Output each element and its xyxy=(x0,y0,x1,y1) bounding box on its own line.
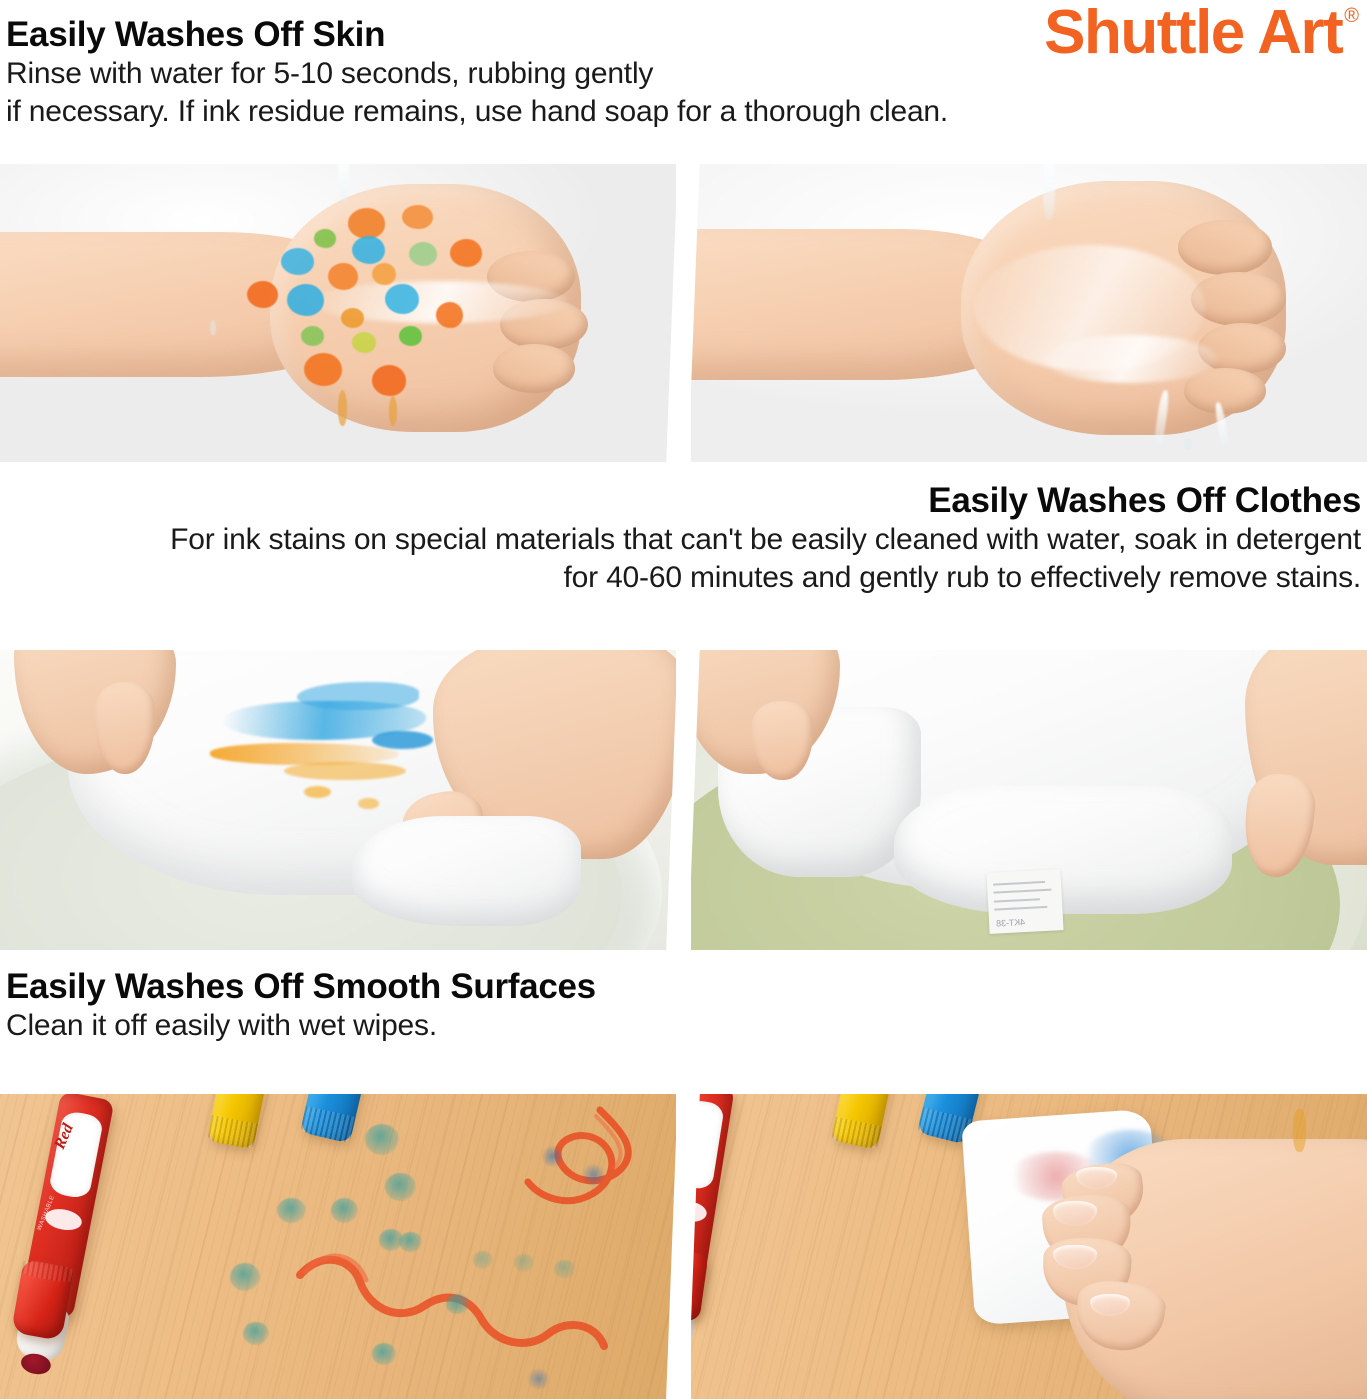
teal-ink-dot xyxy=(446,1294,469,1314)
hand-rinsing-under-water-photo xyxy=(691,160,1367,462)
teal-ink-dot xyxy=(554,1260,574,1279)
registered-trademark-icon: ® xyxy=(1344,6,1359,26)
teal-ink-dot xyxy=(277,1198,305,1223)
teal-ink-dot xyxy=(372,1343,396,1365)
teal-ink-dot xyxy=(365,1124,399,1155)
marker-scribbles-on-wood-table-photo: Red WASHABLE xyxy=(0,1090,676,1399)
shirt-size-tag-text: 4KT-38 xyxy=(997,917,1027,929)
section-clothes-photos: 4KT-38 xyxy=(0,646,1367,950)
knuckle xyxy=(1184,368,1265,413)
blue-ink-dot xyxy=(527,1368,550,1390)
ink-stain-orange xyxy=(304,786,331,798)
ink-dot-orange xyxy=(450,239,482,268)
ink-dot-orange xyxy=(372,365,406,395)
ink-dot-orange xyxy=(341,308,364,328)
shirt-fold xyxy=(352,816,582,925)
ink-dot-green xyxy=(399,326,422,346)
clean-white-shirt-photo: 4KT-38 xyxy=(691,646,1367,950)
row-edge xyxy=(0,160,1367,164)
ink-dot-orange xyxy=(304,353,342,386)
water-drop xyxy=(210,320,217,335)
ink-drip xyxy=(389,396,397,426)
ink-dot-blue xyxy=(281,248,315,275)
brand-logo: Shuttle Art ® xyxy=(1044,2,1359,64)
ink-dot-green xyxy=(352,332,376,353)
teal-ink-dot xyxy=(399,1232,422,1252)
knuckle xyxy=(1191,272,1286,326)
ink-dot-blue xyxy=(385,284,419,314)
shirt-size-tag: 4KT-38 xyxy=(987,869,1064,934)
ink-stain-orange xyxy=(210,743,399,764)
ink-dot-green xyxy=(301,326,324,346)
section-skin-photos xyxy=(0,160,1367,462)
ink-dot-green xyxy=(314,229,336,247)
orange-ink-mark xyxy=(1293,1109,1307,1152)
section-clothes-body-line-2: for 40-60 minutes and gently rub to effe… xyxy=(6,559,1361,597)
section-smooth-heading: Easily Washes Off Smooth Surfaces xyxy=(6,966,1361,1007)
ink-stain-blue xyxy=(297,682,419,709)
row-edge xyxy=(0,646,1367,650)
ink-dot-orange xyxy=(372,263,396,286)
knuckle xyxy=(1178,220,1273,274)
teal-ink-dot xyxy=(243,1322,269,1345)
teal-ink-dot xyxy=(331,1198,358,1223)
ink-dot-blue xyxy=(352,236,386,265)
ink-stain-orange xyxy=(358,798,378,809)
row-edge xyxy=(0,1090,1367,1094)
section-smooth-header: Easily Washes Off Smooth Surfaces Clean … xyxy=(0,950,1367,1090)
section-smooth-body-line-1: Clean it off easily with wet wipes. xyxy=(6,1007,1361,1045)
hand-with-ink-dots-photo xyxy=(0,160,676,462)
blue-ink-dot xyxy=(581,1164,605,1186)
brand-wordmark: Shuttle Art xyxy=(1044,2,1342,64)
water-drop xyxy=(1184,438,1191,450)
section-clothes-header: Easily Washes Off Clothes For ink stains… xyxy=(0,462,1367,646)
ink-dot-orange xyxy=(247,281,278,308)
ink-dot-orange xyxy=(348,208,385,238)
ink-dot-orange xyxy=(436,302,463,328)
water-stream xyxy=(338,160,349,202)
knuckle xyxy=(493,344,574,392)
ink-dot-orange xyxy=(402,205,432,229)
red-marker-scribbles xyxy=(0,1090,676,1399)
section-skin-body-line-2: if necessary. If ink residue remains, us… xyxy=(6,93,1361,131)
wiping-table-with-wet-wipe-photo: Red WASHABLE xyxy=(691,1090,1367,1399)
ink-dot-green xyxy=(409,242,437,266)
blue-ink-dot xyxy=(541,1146,564,1168)
stained-white-shirt-photo xyxy=(0,646,676,950)
section-skin-header: Easily Washes Off Skin Rinse with water … xyxy=(0,0,1367,160)
ink-dot-blue xyxy=(287,284,324,316)
water-stream xyxy=(1043,160,1055,220)
shirt-fold xyxy=(894,786,1232,914)
section-smooth-photos: Red WASHABLE xyxy=(0,1090,1367,1399)
section-clothes-body-line-1: For ink stains on special materials that… xyxy=(6,521,1361,559)
section-clothes-heading: Easily Washes Off Clothes xyxy=(6,480,1361,521)
teal-ink-dot xyxy=(230,1263,260,1291)
ink-dot-orange xyxy=(328,263,358,290)
ink-stain-orange xyxy=(284,762,406,780)
